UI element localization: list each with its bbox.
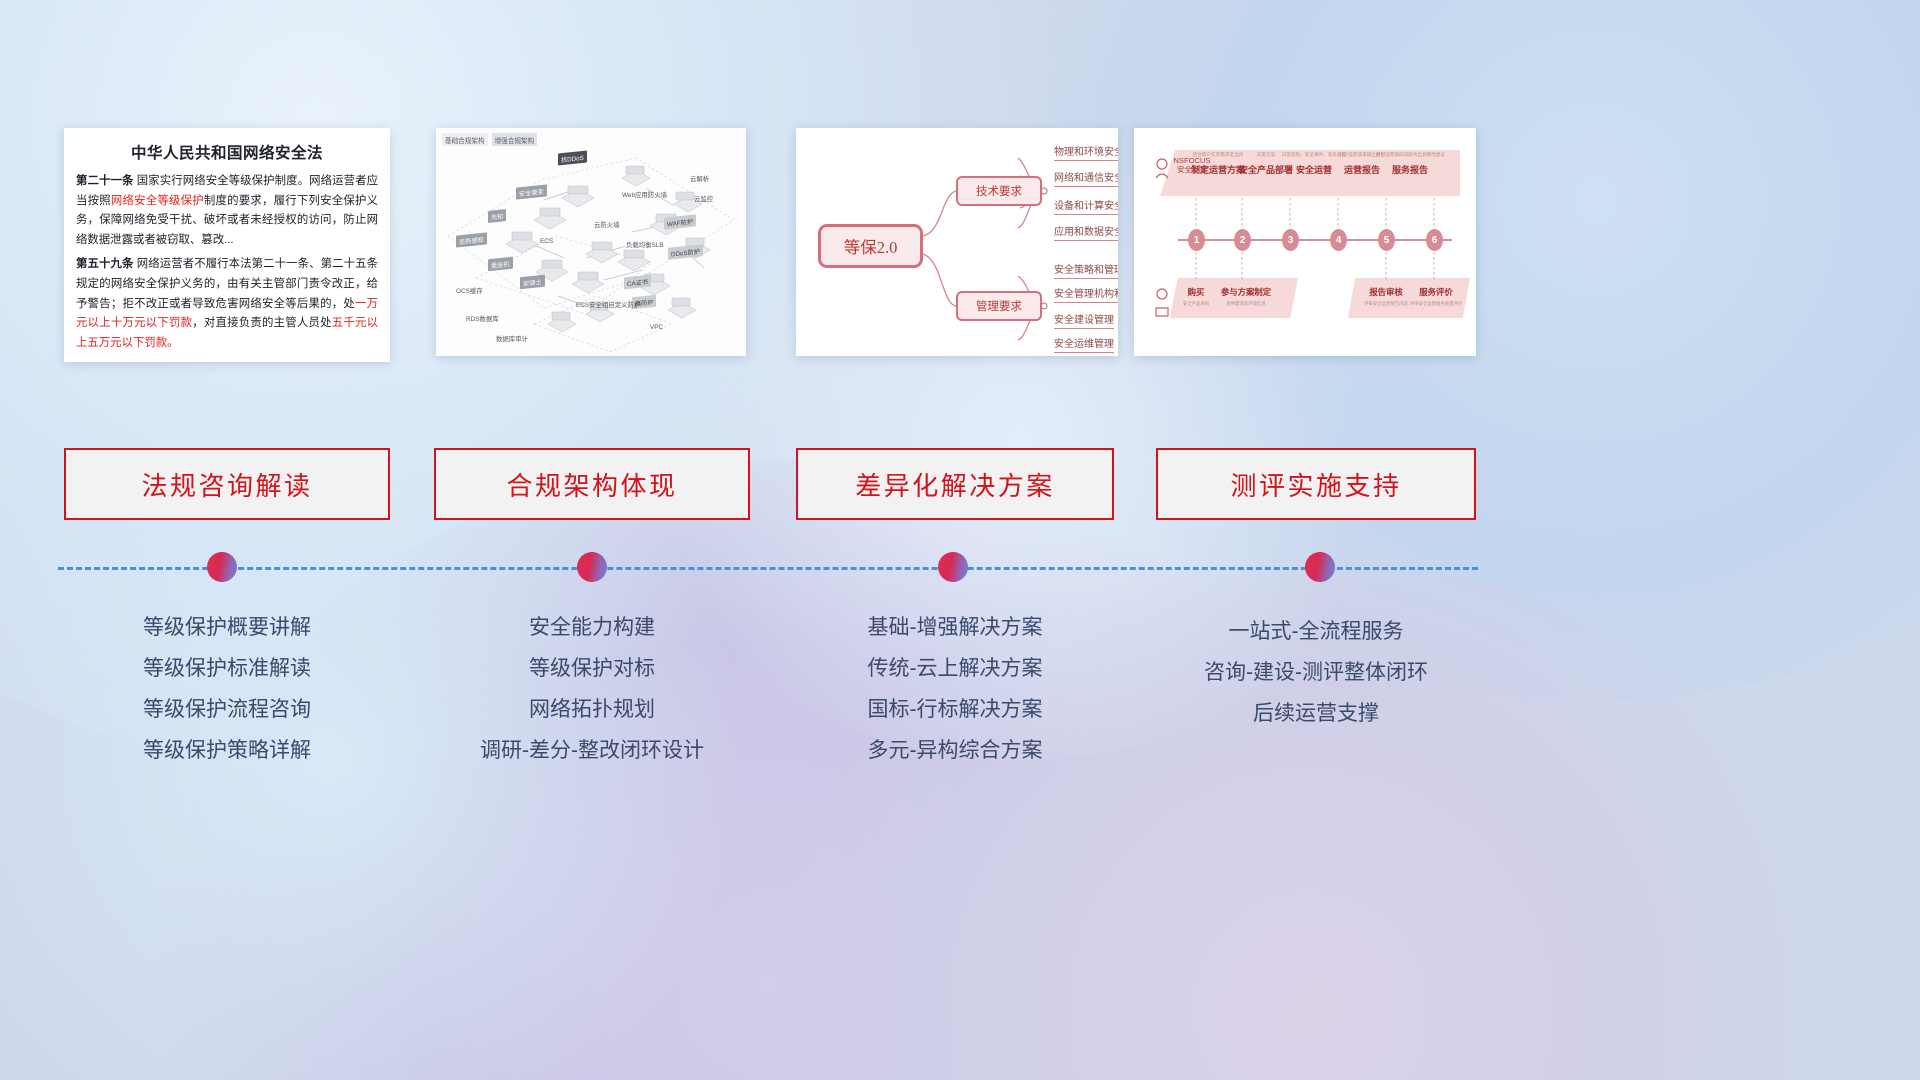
mindmap-leaf-node: 安全管理机构和人员 [1054,285,1118,303]
section-box-2[interactable]: 合规架构体现 [434,448,750,520]
mindmap-leaf-node: 安全建设管理 [1054,311,1114,329]
bullet-list-item: 多元-异构综合方案 [796,731,1114,772]
thumbnail-architecture-diagram[interactable]: 基础合规架构 增强合规架构 [436,128,746,356]
bullet-list-item: 咨询-建设-测评整体闭环 [1156,653,1476,694]
timeline-dot-3 [938,552,968,582]
mindmap-leaf-node: 网络和通信安全 [1054,169,1118,187]
nsfocus-step-number: 5 [1378,229,1395,251]
nsfocus-bottom-step: 报告审核评审安全运营报告内容 [1358,286,1414,307]
nsfocus-bottom-step-title: 报告审核 [1358,286,1414,298]
law-highlight-text: 网络安全等级保护 [111,195,204,207]
nsfocus-bottom-step: 购买安全产品采购 [1168,286,1224,307]
architecture-node-label: 堡垒机 [488,257,513,272]
nsfocus-canvas: NSFOCUS 安全专家 结合客户实际需求定出具制定运营方案实施方案安全产品部署… [1134,128,1476,356]
section-title-4: 测评实施支持 [1230,466,1401,503]
timeline-dot-2 [577,552,607,582]
architecture-node-label: 云解析 [690,174,709,183]
architecture-node-label: 云防火墙 [594,220,620,229]
mindmap-leaf-node: 设备和计算安全 [1054,197,1118,215]
architecture-node-label: 安骑士 [520,275,545,290]
mindmap-leaf-node: 应用和数据安全 [1054,223,1118,241]
law-document-body: 中华人民共和国网络安全法 第二十一条 国家实行网络安全等级保护制度。网络运营者应… [64,128,390,361]
nsfocus-top-step: 针对运营期间问题点出具整改建议服务报告 [1376,152,1444,176]
bullet-list-item: 等级保护流程咨询 [64,690,390,731]
nsfocus-step-number: 3 [1282,229,1299,251]
architecture-node-label: 先知 [488,209,506,223]
section-title-1: 法规咨询解读 [141,466,312,503]
timeline-dashed-line [58,567,1478,570]
thumbnail-mindmap[interactable]: 等保2.0 技术要求 管理要求 物理和环境安全网络和通信安全设备和计算安全应用和… [796,128,1118,356]
bullet-list-item: 安全能力构建 [434,608,750,649]
law-article-label: 第五十九条 [76,258,133,270]
bullet-column-4: 一站式-全流程服务咨询-建设-测评整体闭环后续运营支撑 [1156,612,1476,735]
section-title-3: 差异化解决方案 [855,466,1055,503]
bullet-column-3: 基础-增强解决方案传统-云上解决方案国标-行标解决方案多元-异构综合方案 [796,608,1114,772]
timeline-dot-1 [207,552,237,582]
architecture-node-label: RDS数据库 [466,314,499,323]
law-paragraph-list: 第二十一条 国家实行网络安全等级保护制度。网络运营者应当按照网络安全等级保护制度… [76,172,378,353]
architecture-canvas: 基础合规架构 增强合规架构 [436,128,746,356]
law-paragraph: 第二十一条 国家实行网络安全等级保护制度。网络运营者应当按照网络安全等级保护制度… [76,172,378,250]
nsfocus-step-subtext: 针对运营期间问题点出具整改建议 [1376,152,1444,157]
bullet-list-item: 等级保护概要讲解 [64,608,390,649]
bullet-list-item: 传统-云上解决方案 [796,649,1114,690]
mindmap-root-node: 等保2.0 [818,224,923,268]
nsfocus-bottom-step: 服务评价评审安全运营服务质量评价 [1408,286,1464,307]
nsfocus-bottom-step-title: 购买 [1168,286,1224,298]
architecture-node-label: 数据库审计 [496,334,528,343]
mindmap-branch-management: 管理要求 [956,291,1042,321]
thumbnail-nsfocus-timeline[interactable]: NSFOCUS 安全专家 结合客户实际需求定出具制定运营方案实施方案安全产品部署… [1134,128,1476,356]
bullet-list-item: 后续运营支撑 [1156,694,1476,735]
nsfocus-bottom-step-title: 服务评价 [1408,286,1464,298]
bullet-list-item: 等级保护对标 [434,649,750,690]
thumbnail-law-document[interactable]: 中华人民共和国网络安全法 第二十一条 国家实行网络安全等级保护制度。网络运营者应… [64,128,390,362]
nsfocus-bottom-step: 参与方案制定提供需求及环境信息 [1218,286,1274,307]
nsfocus-bottom-step-subtext: 提供需求及环境信息 [1218,301,1274,307]
law-title: 中华人民共和国网络安全法 [76,141,378,163]
bullet-list-item: 一站式-全流程服务 [1156,612,1476,653]
bullet-column-2: 安全能力构建等级保护对标网络拓扑规划调研-差分-整改闭环设计 [434,608,750,772]
nsfocus-bottom-step-subtext: 评审安全运营报告内容 [1358,301,1414,307]
nsfocus-step-title: 服务报告 [1376,163,1444,176]
law-body-text: ，对直接负责的主管人员处 [192,317,331,329]
section-title-2: 合规架构体现 [506,466,677,503]
nsfocus-bottom-step-subtext: 安全产品采购 [1168,301,1224,307]
nsfocus-step-number: 4 [1330,229,1347,251]
timeline-dot-4 [1305,552,1335,582]
section-box-3[interactable]: 差异化解决方案 [796,448,1114,520]
mindmap-branch-technical: 技术要求 [956,176,1042,206]
architecture-node-label: OCS缓存 [456,286,483,295]
bullet-list-item: 网络拓扑规划 [434,690,750,731]
architecture-node-label: 云监控 [694,194,713,203]
section-box-1[interactable]: 法规咨询解读 [64,448,390,520]
mindmap-canvas: 等保2.0 技术要求 管理要求 物理和环境安全网络和通信安全设备和计算安全应用和… [796,128,1118,356]
bullet-list-item: 调研-差分-整改闭环设计 [434,731,750,772]
architecture-node-label: ECS安全组自定义防护 [576,300,640,309]
mindmap-leaf-node: 物理和环境安全 [1054,143,1118,161]
law-article-label: 第二十一条 [76,175,133,187]
nsfocus-bottom-step-subtext: 评审安全运营服务质量评价 [1408,301,1464,307]
architecture-node-label: 负载均衡SLB [626,240,664,249]
bullet-list-item: 国标-行标解决方案 [796,690,1114,731]
bullet-list-item: 等级保护策略详解 [64,731,390,772]
bullet-column-1: 等级保护概要讲解等级保护标准解读等级保护流程咨询等级保护策略详解 [64,608,390,772]
mindmap-leaf-node: 安全策略和管理制度 [1054,261,1118,279]
architecture-node-label: VPC [650,324,663,331]
bullet-list-item: 等级保护标准解读 [64,649,390,690]
section-box-4[interactable]: 测评实施支持 [1156,448,1476,520]
nsfocus-step-number: 1 [1188,229,1205,251]
nsfocus-bottom-step-title: 参与方案制定 [1218,286,1274,298]
nsfocus-step-number: 2 [1234,229,1251,251]
nsfocus-step-number: 6 [1426,229,1443,251]
bullet-list-item: 基础-增强解决方案 [796,608,1114,649]
mindmap-leaf-node: 安全运维管理 [1054,335,1114,353]
law-paragraph: 第五十九条 网络运营者不履行本法第二十一条、第二十五条规定的网络安全保护义务的，… [76,255,378,353]
architecture-node-label: Web应用防火墙 [622,190,667,199]
architecture-node-label: ECS [540,238,553,245]
